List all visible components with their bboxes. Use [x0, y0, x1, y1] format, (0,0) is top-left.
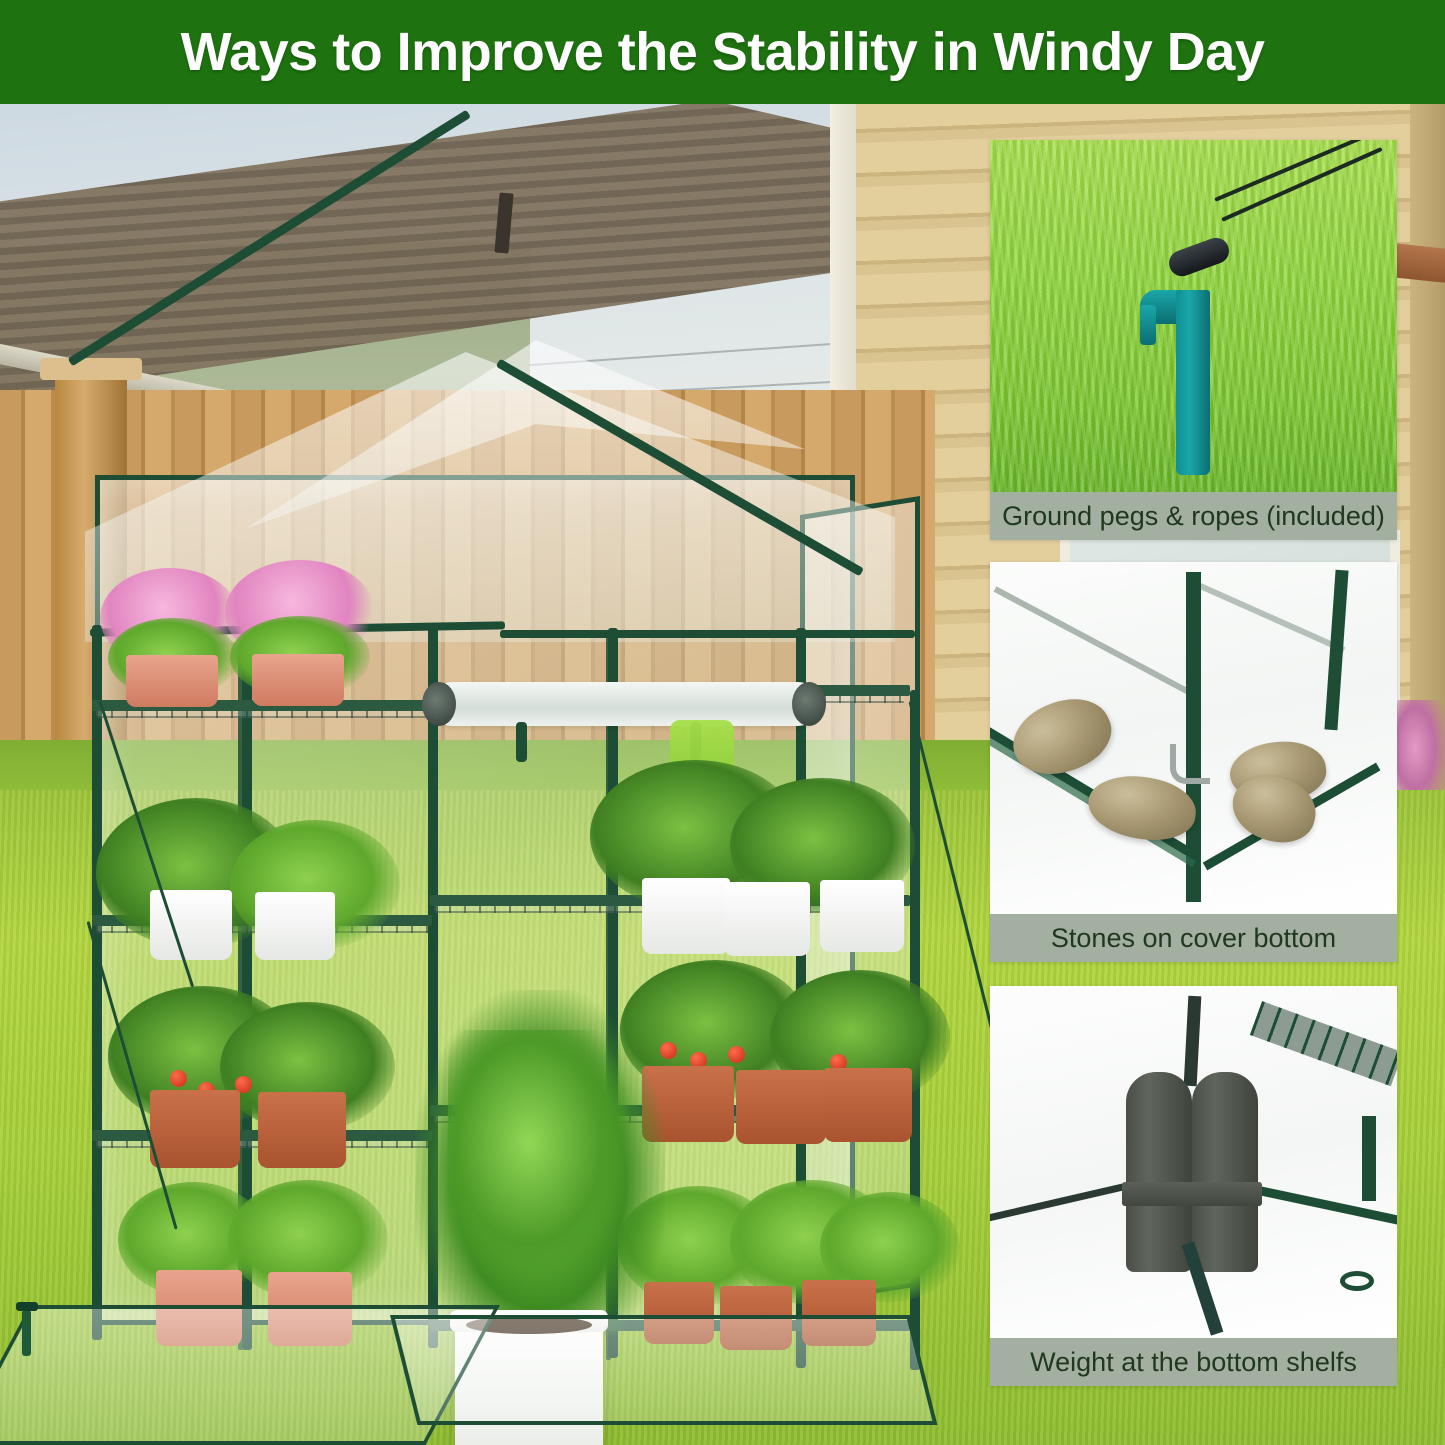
door-tie-1 — [516, 722, 527, 762]
peg-hook-arm — [1140, 305, 1156, 345]
greenhouse-brace-1 — [994, 586, 1200, 699]
ground-peg-left-head — [16, 1302, 38, 1311]
cover-bottom-skirt-right — [390, 1315, 937, 1425]
weight-bag-strap — [1122, 1182, 1262, 1206]
flower-pot-pink-2 — [252, 654, 344, 706]
foreground-plant-foliage-inner — [448, 1030, 628, 1280]
ground-peg-left — [22, 1310, 31, 1356]
cord-lock-icon — [1165, 234, 1232, 280]
panel-caption-ground-pegs: Ground pegs & ropes (included) — [990, 492, 1397, 540]
panel-caption-text: Weight at the bottom shelfs — [1030, 1347, 1357, 1378]
panel-caption-text: Stones on cover bottom — [1051, 923, 1336, 954]
greenhouse-side-post — [1324, 570, 1348, 731]
tomato-fruit-1 — [170, 1070, 187, 1087]
cover-ring-icon — [1340, 1271, 1374, 1291]
greenhouse-center-pole-top — [1184, 996, 1202, 1087]
flower-pot-white-1 — [642, 878, 730, 954]
weight-bag-left — [1126, 1072, 1192, 1272]
flower-pot-terracotta-2 — [258, 1092, 346, 1168]
panel-caption-weights: Weight at the bottom shelfs — [990, 1338, 1397, 1386]
panel-photo-stones — [990, 562, 1397, 914]
panel-photo-weights — [990, 986, 1397, 1338]
feature-panel-weights: Weight at the bottom shelfs — [990, 986, 1397, 1386]
roof-eave-right — [500, 630, 915, 638]
flower-pot-terracotta-4 — [736, 1070, 826, 1144]
rolled-door-panel — [430, 682, 820, 726]
header-banner: Ways to Improve the Stability in Windy D… — [0, 0, 1445, 104]
weight-bag-right — [1192, 1072, 1258, 1272]
roll-cap-left — [422, 682, 456, 726]
panel-caption-stones: Stones on cover bottom — [990, 914, 1397, 962]
ground-peg-stake — [1176, 290, 1210, 475]
feature-panel-ground-pegs: Ground pegs & ropes (included) — [990, 140, 1397, 540]
flower-pot-white-5 — [255, 892, 335, 960]
flower-pot-terracotta-5 — [824, 1068, 912, 1142]
flower-pot-white-2 — [724, 882, 810, 956]
flower-pot-terracotta-1 — [150, 1090, 240, 1168]
guy-rope-strand-1 — [1214, 140, 1377, 202]
greenhouse-brace-2 — [1197, 582, 1346, 653]
panel-photo-ground-pegs — [990, 140, 1397, 492]
roll-cap-right — [792, 682, 826, 726]
greenhouse — [30, 230, 935, 1445]
panel-caption-text: Ground pegs & ropes (included) — [1002, 501, 1385, 532]
tomato-fruit-6 — [728, 1046, 745, 1063]
greenhouse-vertical-post — [1362, 1116, 1376, 1201]
infographic-poster: Ways to Improve the Stability in Windy D… — [0, 0, 1445, 1445]
flower-pot-pink-1 — [126, 655, 218, 707]
frame-post-1 — [92, 625, 102, 1340]
greenhouse-wire-shelf — [1250, 1001, 1397, 1086]
feature-panel-stones: Stones on cover bottom — [990, 562, 1397, 962]
cover-hook-icon — [1170, 744, 1210, 784]
page-title: Ways to Improve the Stability in Windy D… — [181, 21, 1265, 83]
flower-pot-white-3 — [820, 880, 904, 952]
